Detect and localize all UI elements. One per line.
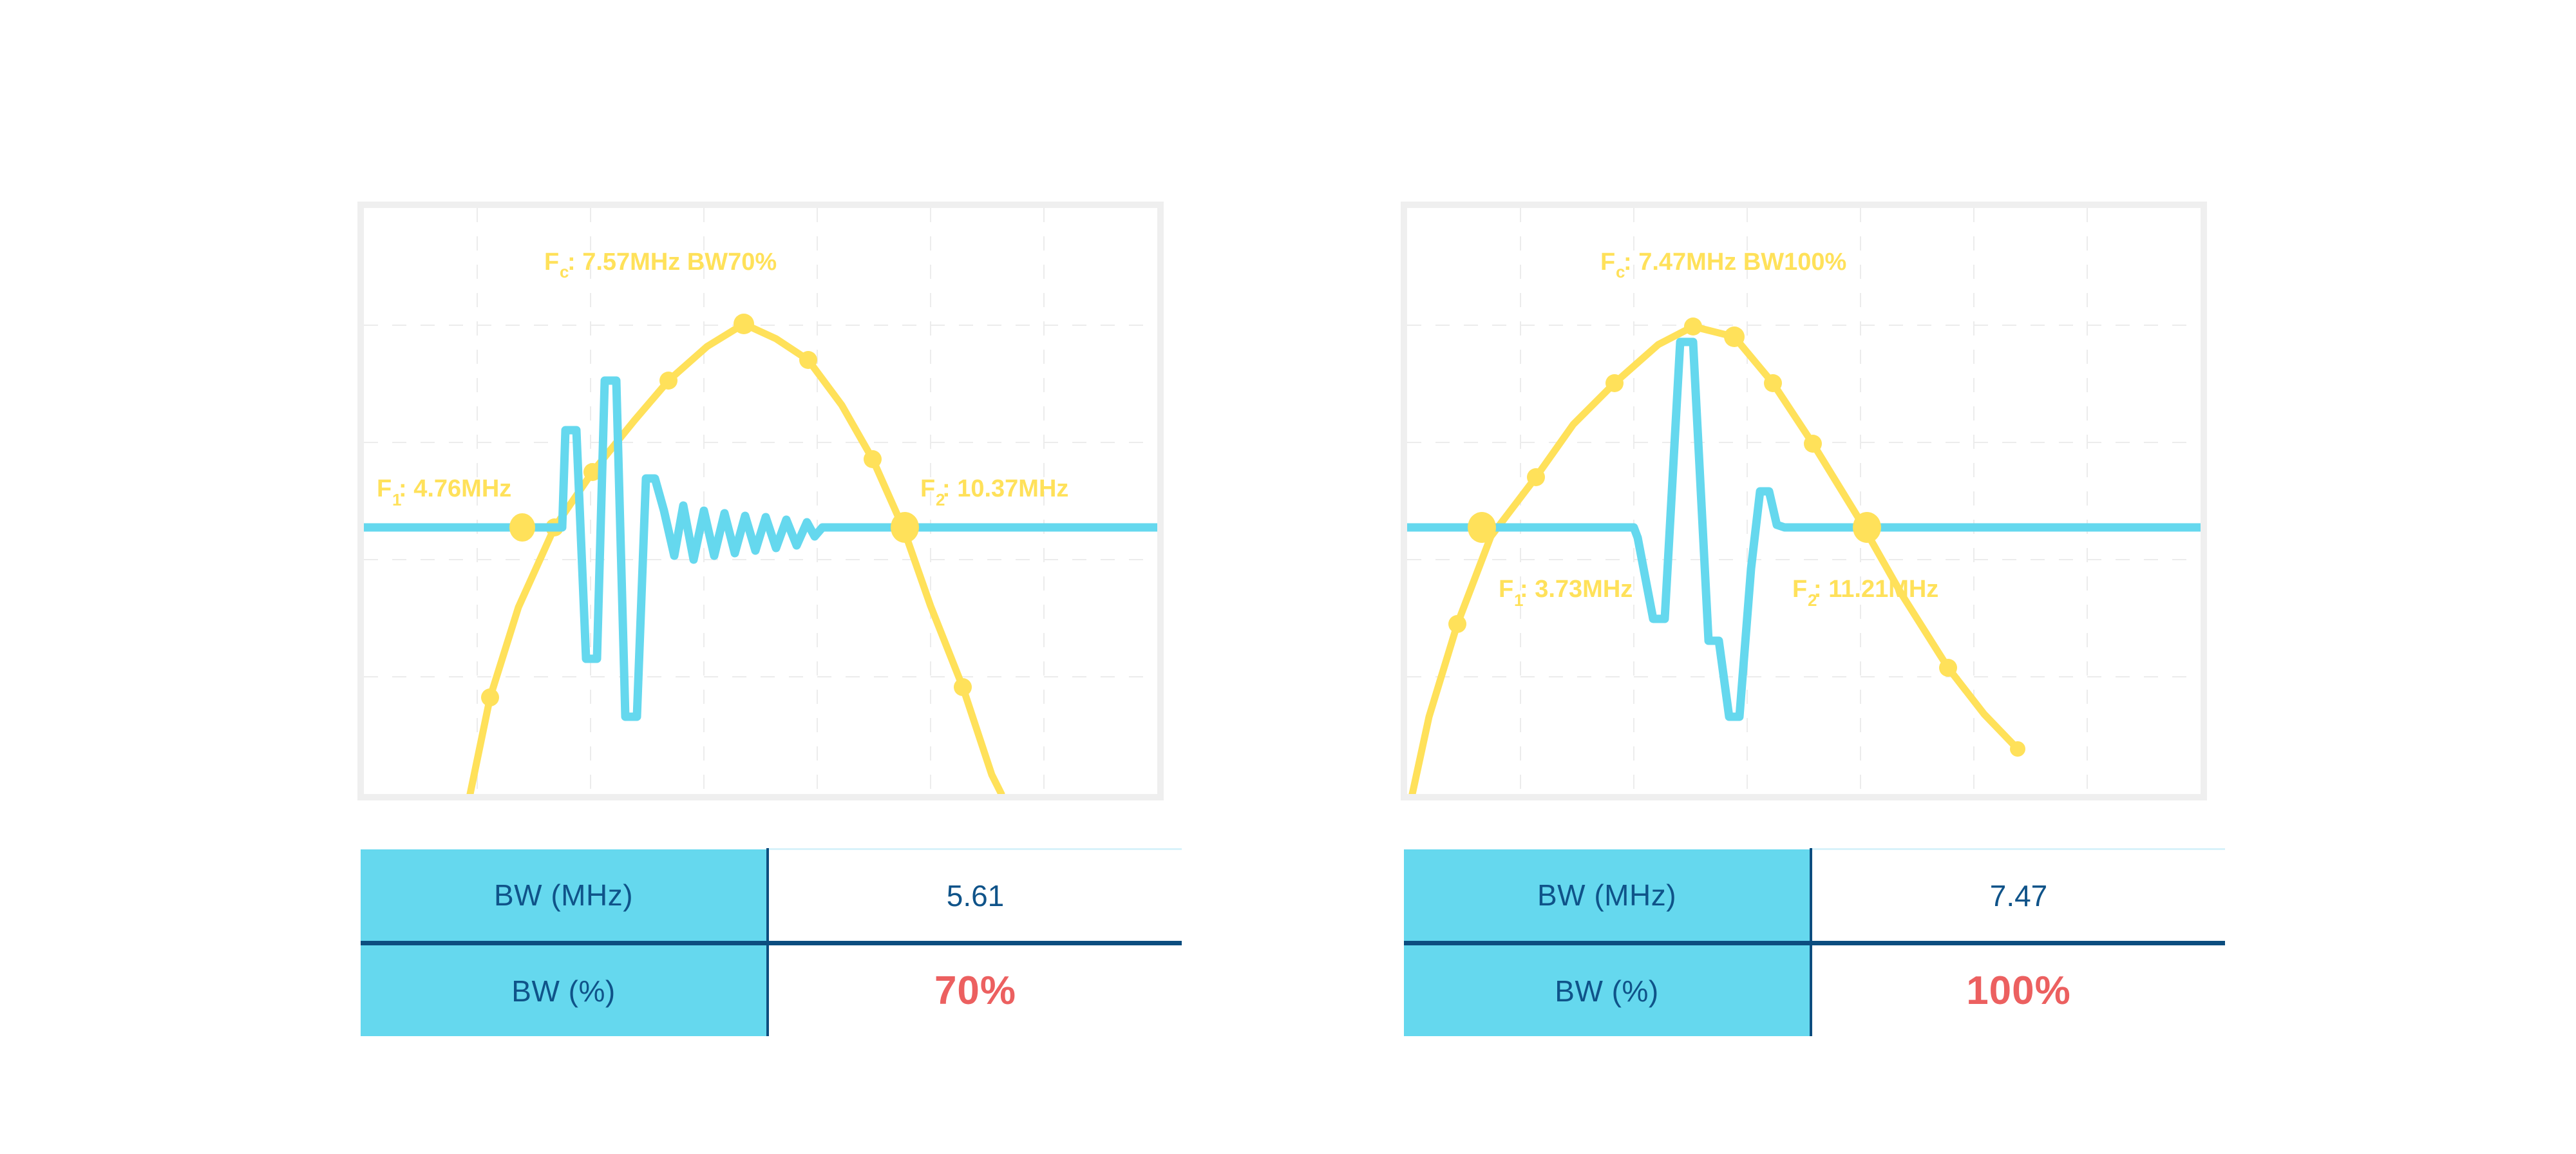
bw-percent-value: 70% <box>768 943 1182 1037</box>
bw-percent-value: 100% <box>1811 943 2225 1037</box>
panel-left: F c : 7.57MHz BW70% F 1 : 4.76MHz F 2 : … <box>357 202 1164 800</box>
bw-percent-label: BW (%) <box>361 943 768 1037</box>
bw-percent-label: BW (%) <box>1404 943 1811 1037</box>
f2-prefix: F <box>920 475 935 502</box>
pulse-waveform <box>364 381 1157 717</box>
bw-mhz-label: BW (MHz) <box>1404 849 1811 943</box>
f1-text: : 3.73MHz <box>1520 576 1633 603</box>
table-row: BW (%) 100% <box>1404 943 2225 1037</box>
f2-text: : 10.37MHz <box>942 475 1068 502</box>
panel-right: F c : 7.47MHz BW100% F 1 : 3.73MHz F 2 :… <box>1401 202 2207 800</box>
f2-prefix: F <box>1792 576 1807 603</box>
spectrum-plot-right: F c : 7.47MHz BW100% F 1 : 3.73MHz F 2 :… <box>1407 208 2201 794</box>
plot-frame-left: F c : 7.57MHz BW70% F 1 : 4.76MHz F 2 : … <box>357 202 1164 800</box>
bw-mhz-label: BW (MHz) <box>361 849 768 943</box>
annotation-f1: F 1 : 3.73MHz <box>1499 576 1633 610</box>
f2-text: : 11.21MHz <box>1814 576 1938 603</box>
bw-table-left: BW (MHz) 5.61 BW (%) 70% <box>361 848 1182 1036</box>
pulse-waveform <box>1407 342 2201 717</box>
fc-prefix: F <box>1600 249 1615 276</box>
annotation-f2: F 2 : 10.37MHz <box>920 475 1068 509</box>
fc-prefix: F <box>544 249 559 276</box>
charts-container: F c : 7.57MHz BW70% F 1 : 4.76MHz F 2 : … <box>0 0 2576 1154</box>
fc-text: : 7.47MHz BW100% <box>1624 249 1846 276</box>
table-row: BW (%) 70% <box>361 943 1182 1037</box>
bw-table-right: BW (MHz) 7.47 BW (%) 100% <box>1404 848 2225 1036</box>
plot-frame-right: F c : 7.47MHz BW100% F 1 : 3.73MHz F 2 :… <box>1401 202 2207 800</box>
annotation-fc: F c : 7.47MHz BW100% <box>1600 249 1846 281</box>
bw-mhz-value: 5.61 <box>768 849 1182 943</box>
grid-lines <box>1407 208 2201 794</box>
table-row: BW (MHz) 5.61 <box>361 849 1182 943</box>
annotation-fc: F c : 7.57MHz BW70% <box>544 249 777 281</box>
spectrum-plot-left: F c : 7.57MHz BW70% F 1 : 4.76MHz F 2 : … <box>364 208 1157 794</box>
f1-text: : 4.76MHz <box>399 475 511 502</box>
annotation-f1: F 1 : 4.76MHz <box>377 475 511 509</box>
table-row: BW (MHz) 7.47 <box>1404 849 2225 943</box>
annotation-f2: F 2 : 11.21MHz <box>1792 576 1938 610</box>
spectrum-markers <box>1448 317 2025 757</box>
f1-prefix: F <box>1499 576 1513 603</box>
f1-prefix: F <box>377 475 392 502</box>
bw-mhz-value: 7.47 <box>1811 849 2225 943</box>
fc-text: : 7.57MHz BW70% <box>567 249 777 276</box>
